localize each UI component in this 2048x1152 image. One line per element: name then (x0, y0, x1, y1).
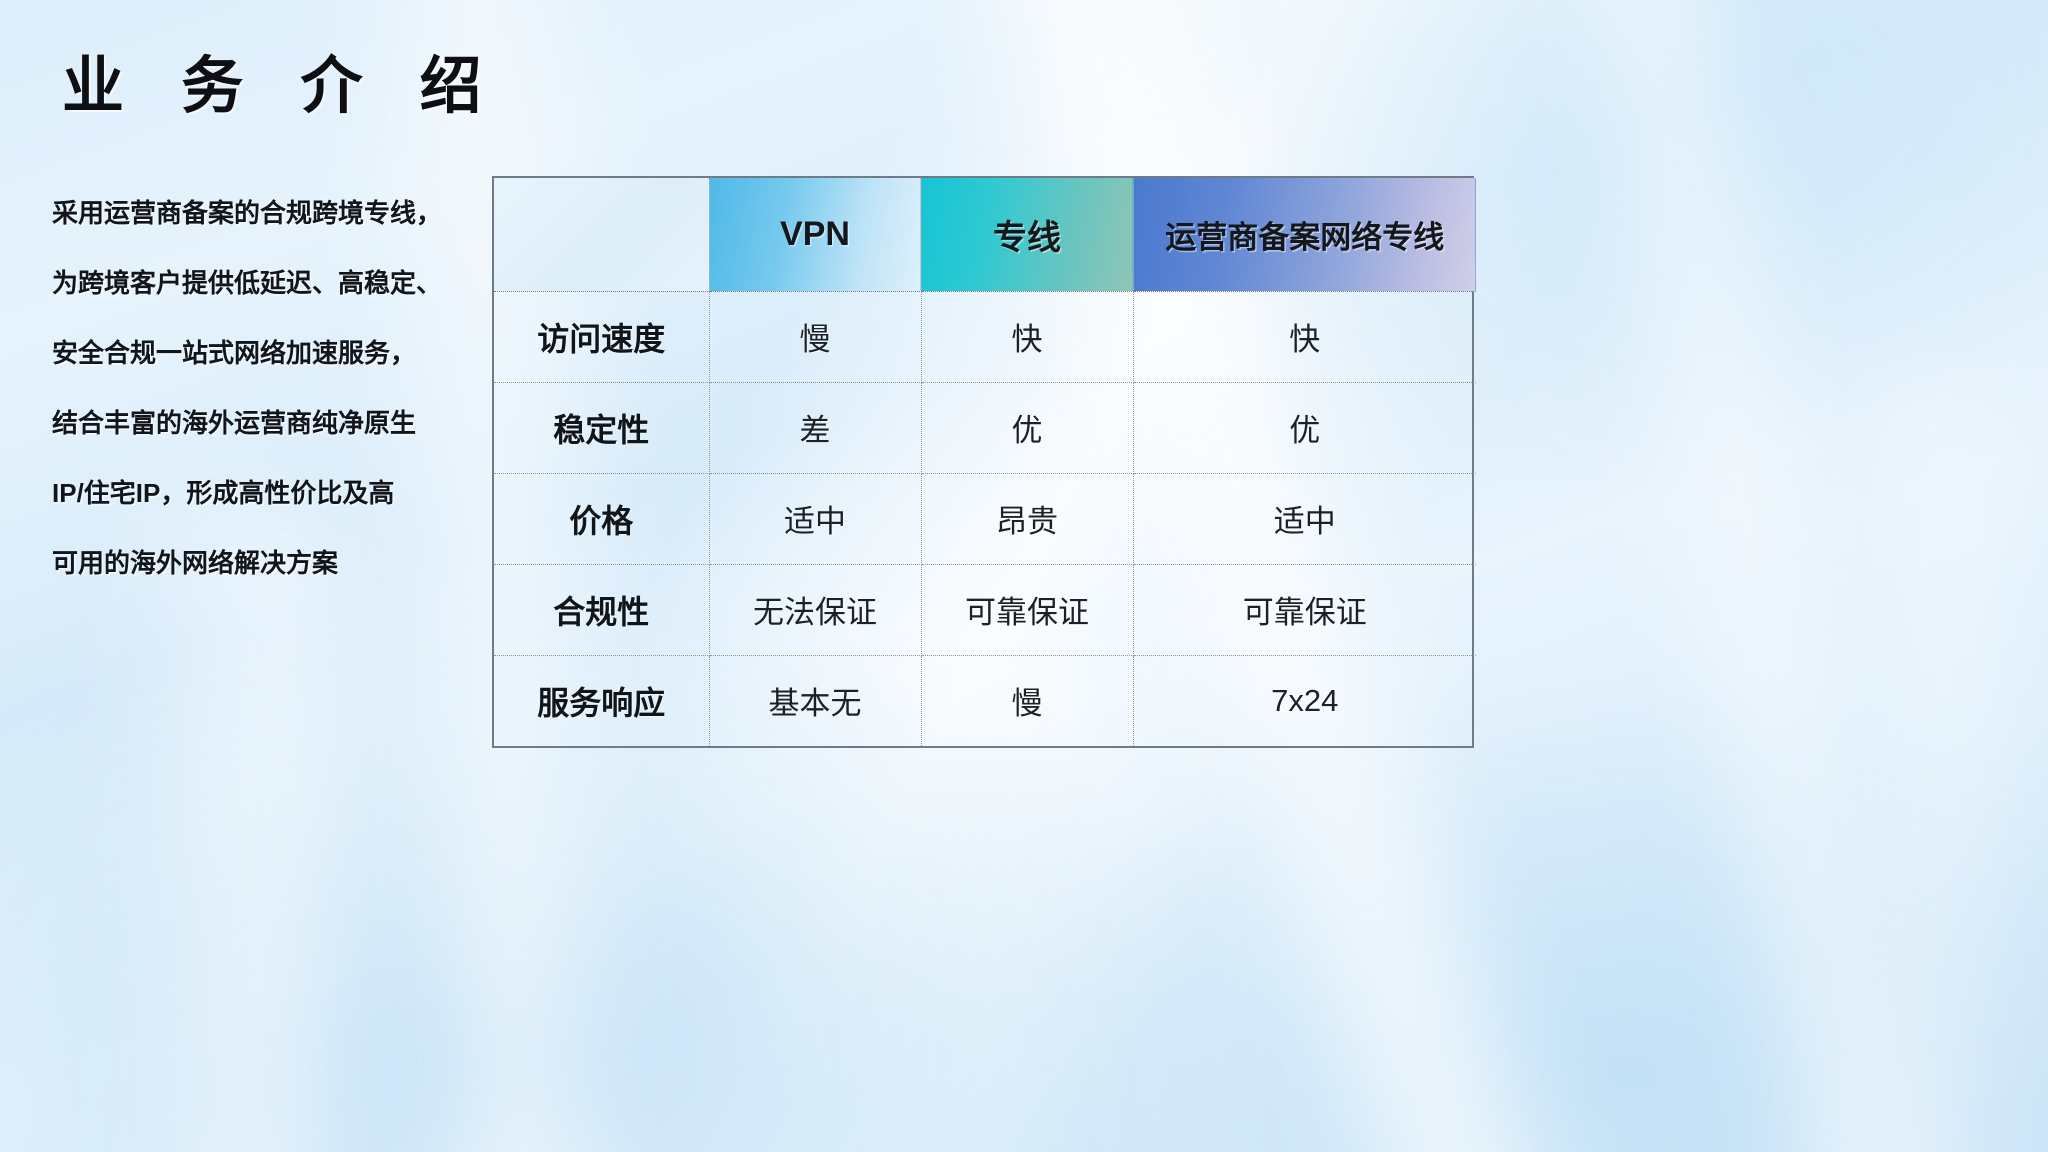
column-header-dedicated-line: 专线 (921, 178, 1133, 291)
cell-vpn: 无法保证 (709, 564, 921, 655)
intro-paragraph: 采用运营商备案的合规跨境专线， 为跨境客户提供低延迟、高稳定、 安全合规一站式网… (52, 178, 482, 598)
row-label-stability: 稳定性 (494, 382, 709, 473)
page-title: 业 务 介 绍 (62, 48, 502, 126)
intro-line: 可用的海外网络解决方案 (52, 528, 482, 598)
cell-carrier: 7x24 (1133, 655, 1476, 746)
cell-vpn: 慢 (709, 291, 921, 382)
table-row: 合规性 无法保证 可靠保证 可靠保证 (494, 564, 1476, 655)
row-label-access-speed: 访问速度 (494, 291, 709, 382)
cell-vpn: 差 (709, 382, 921, 473)
comparison-table-grid: VPN 专线 运营商备案网络专线 访问速度 慢 快 快 稳定性 差 优 优 (494, 178, 1476, 746)
table-row: 服务响应 基本无 慢 7x24 (494, 655, 1476, 746)
column-header-carrier-registered-line: 运营商备案网络专线 (1133, 178, 1476, 291)
cell-vpn: 适中 (709, 473, 921, 564)
table-header-row: VPN 专线 运营商备案网络专线 (494, 178, 1476, 291)
intro-line: 结合丰富的海外运营商纯净原生 (52, 388, 482, 458)
cell-line: 慢 (921, 655, 1133, 746)
column-header-blank (494, 178, 709, 291)
row-label-price: 价格 (494, 473, 709, 564)
intro-line: 采用运营商备案的合规跨境专线， (52, 178, 482, 248)
intro-line: IP/住宅IP，形成高性价比及高 (52, 458, 482, 528)
column-header-vpn: VPN (709, 178, 921, 291)
table-header: VPN 专线 运营商备案网络专线 (494, 178, 1476, 291)
cell-carrier: 适中 (1133, 473, 1476, 564)
row-label-compliance: 合规性 (494, 564, 709, 655)
cell-line: 优 (921, 382, 1133, 473)
table-row: 稳定性 差 优 优 (494, 382, 1476, 473)
intro-line: 安全合规一站式网络加速服务， (52, 318, 482, 388)
table-row: 访问速度 慢 快 快 (494, 291, 1476, 382)
row-label-service-response: 服务响应 (494, 655, 709, 746)
table-row: 价格 适中 昂贵 适中 (494, 473, 1476, 564)
cell-line: 可靠保证 (921, 564, 1133, 655)
slide-canvas: 业 务 介 绍 采用运营商备案的合规跨境专线， 为跨境客户提供低延迟、高稳定、 … (0, 0, 2048, 1152)
cell-line: 快 (921, 291, 1133, 382)
cell-carrier: 优 (1133, 382, 1476, 473)
comparison-table: VPN 专线 运营商备案网络专线 访问速度 慢 快 快 稳定性 差 优 优 (492, 176, 1474, 748)
cell-carrier: 快 (1133, 291, 1476, 382)
cell-line: 昂贵 (921, 473, 1133, 564)
table-body: 访问速度 慢 快 快 稳定性 差 优 优 价格 适中 昂贵 适中 (494, 291, 1476, 746)
intro-line: 为跨境客户提供低延迟、高稳定、 (52, 248, 482, 318)
cell-vpn: 基本无 (709, 655, 921, 746)
cell-carrier: 可靠保证 (1133, 564, 1476, 655)
background-tint-bottom-right (1028, 692, 2048, 1152)
